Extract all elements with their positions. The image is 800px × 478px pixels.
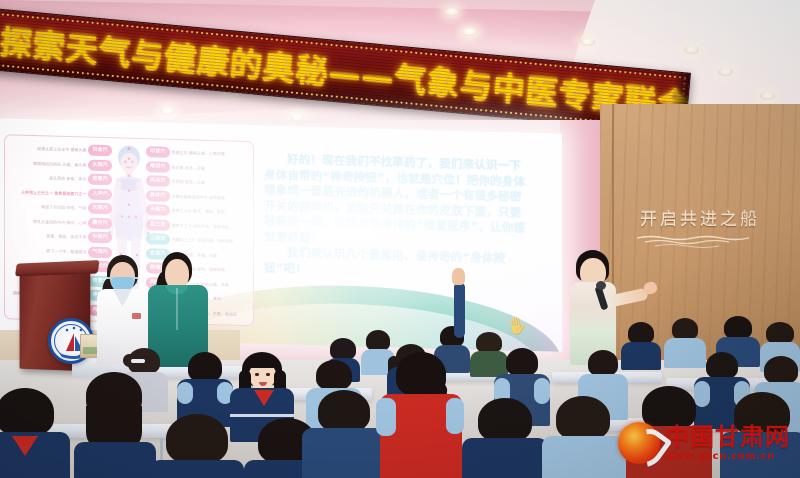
hair xyxy=(366,330,390,351)
hair xyxy=(476,332,502,353)
acupoint-pill: 天突穴 xyxy=(88,203,112,215)
ceiling-downlight xyxy=(684,46,699,54)
wall-motto-text: 开启共进之船 xyxy=(625,205,775,230)
acupoint-description: 膝眼下三寸 消化不良、增强免疫 xyxy=(172,222,229,229)
hair xyxy=(764,356,798,384)
hair xyxy=(166,414,228,464)
ceiling-downlight xyxy=(580,38,595,46)
watermark-brand-name: 中国甘肃网 xyxy=(665,425,790,449)
hand-pointer-icon: ✋ xyxy=(506,315,530,337)
student-girl-red-vest xyxy=(396,352,446,478)
uniform-jacket xyxy=(542,436,626,478)
uniform-jacket xyxy=(302,428,386,478)
coat-badge xyxy=(132,313,141,319)
acupoint-pill: 足三里 xyxy=(146,219,170,231)
acupoint-description: 两眉正中 缓解头痛、心情烦躁 xyxy=(172,150,225,156)
uniform-shoulder-right xyxy=(534,378,550,404)
hair xyxy=(588,350,618,376)
student xyxy=(318,390,370,478)
student xyxy=(476,332,502,372)
wall-motto-wave-decoration xyxy=(625,234,775,248)
hair xyxy=(478,398,532,442)
acupoint-description: 鼻孔两旁 鼻塞、鼻炎 xyxy=(49,175,86,181)
uniform-jacket xyxy=(150,460,244,478)
acupoint-pill: 人中穴 xyxy=(88,188,112,200)
acupoint-label-row: 鼻孔两旁 鼻塞、鼻炎迎香穴 xyxy=(8,170,112,186)
acupoint-description: 眼内角 目赤、目痛 xyxy=(172,164,205,170)
acupoint-pill: 三阴交 xyxy=(146,233,170,245)
acupoint-description: 两眉梢后凹陷处 头痛、偏头痛 xyxy=(33,161,86,167)
student xyxy=(672,318,698,364)
hair xyxy=(628,322,654,344)
photo-scene: 探索天气与健康的奥秘——气象与中医专家联合校园科普行 开启共进之船 xyxy=(0,0,800,478)
acupoint-label-row: 胃痛、腹胀、食欲不振中脘穴 xyxy=(8,228,112,244)
hair xyxy=(330,338,356,360)
ceiling-downlight xyxy=(160,107,175,115)
acupoint-label-row: 风池穴后颈部 感冒、头痛 xyxy=(146,174,250,190)
acupoint-label-row: 肩井穴大椎与肩峰连线中点 肩颈酸痛 xyxy=(146,189,250,205)
acupoint-label-row: 天枢穴脐旁上寸中 腹泻、便秘、腹胀 xyxy=(146,203,250,219)
eye-right xyxy=(266,373,270,376)
student-raising-hand xyxy=(452,268,466,338)
hair xyxy=(0,388,54,436)
student xyxy=(86,372,142,478)
acupoint-description: 喉结下方凹陷 咳嗽、气喘 xyxy=(41,204,86,210)
uniform-jacket xyxy=(664,338,706,368)
hair xyxy=(672,318,698,340)
wall-motto: 开启共进之船 xyxy=(625,205,775,248)
acupoint-label-row: 睛明穴眼内角 目赤、目痛 xyxy=(146,160,250,176)
student xyxy=(166,414,228,478)
hair xyxy=(724,316,752,339)
student xyxy=(478,398,532,478)
uniform-jacket xyxy=(462,438,548,478)
uniform-jacket xyxy=(621,342,661,370)
acupoint-pill: 膻中穴 xyxy=(88,217,112,229)
uniform-stripe xyxy=(230,414,294,417)
acupoint-description: 脐旁上寸中 腹泻、便秘、腹胀 xyxy=(172,208,225,214)
watermark-url: www.gscn.com.cn xyxy=(665,452,790,462)
student xyxy=(366,330,390,370)
acupoint-description: 内踝尖上三寸 月经不调、妇科调理 xyxy=(172,237,233,244)
acupoint-description: 脐下一寸半，腹痛腹泻 xyxy=(46,248,86,254)
acupoint-label-row: 两乳头连线的中点 胸闷、心悸膻中穴 xyxy=(8,214,112,230)
ceiling-downlight xyxy=(462,28,477,36)
acupoint-label-row: 两眉梢后凹陷处 头痛、偏头痛太阳穴 xyxy=(8,156,112,172)
slide-paragraph-1: 好的！现在我们不找草药了，我们来认识一下身体自带的“神奇按钮”，也就是穴位！把你… xyxy=(264,151,526,251)
acupoint-label-row: 经常头部上方正中 缓解头痛百会穴 xyxy=(8,141,112,157)
acupoint-description: 后颈部 感冒、头痛 xyxy=(172,179,205,185)
acupoint-label-row: 三阴交内踝尖上三寸 月经不调、妇科调理 xyxy=(146,232,250,248)
student xyxy=(0,388,54,478)
hand xyxy=(452,268,465,285)
student xyxy=(188,352,222,422)
slide-body-text: 好的！现在我们不找草药了，我们来认识一下身体自带的“神奇按钮”，也就是穴位！把你… xyxy=(264,151,526,282)
acupoint-pill: 迎香穴 xyxy=(88,174,112,186)
lectern-top xyxy=(15,260,100,276)
acupoint-pill: 百会穴 xyxy=(88,145,112,157)
jacket-zipper xyxy=(176,288,178,330)
ceiling-downlight xyxy=(760,92,775,100)
gscn-orb-logo xyxy=(618,422,660,464)
acupoint-label-row: 人中沟上三分之一 急救昏迷要穴之一人中穴 xyxy=(8,185,112,201)
hair xyxy=(766,322,794,344)
acupoint-description: 两乳头连线的中点 胸闷、心悸 xyxy=(33,219,86,225)
acupoint-pill: 中脘穴 xyxy=(88,232,112,244)
student xyxy=(556,396,610,478)
acupoint-description: 胃痛、腹胀、食欲不振 xyxy=(46,233,86,239)
raised-arm xyxy=(454,282,465,338)
student xyxy=(628,322,654,366)
acupoint-pill: 风池穴 xyxy=(146,175,170,187)
hair xyxy=(316,360,352,390)
uniform-jacket xyxy=(74,442,156,478)
acupoint-description: 大椎与肩峰连线中点 肩颈酸痛 xyxy=(172,193,225,199)
uniform-sleeve-left xyxy=(376,398,396,436)
uniform-shoulder-left xyxy=(694,381,710,407)
hair-accessory xyxy=(131,359,145,363)
acupoint-label-row: 足三里膝眼下三寸 消化不良、增强免疫 xyxy=(146,218,250,234)
hair xyxy=(506,348,538,376)
uniform-sleeve-right xyxy=(446,398,464,434)
ceiling-downlight xyxy=(718,68,733,76)
hair xyxy=(706,352,738,379)
hair-bangs xyxy=(248,359,277,368)
hair xyxy=(318,390,370,432)
eye-left xyxy=(255,373,259,376)
microphone-head xyxy=(596,281,606,290)
hair xyxy=(556,396,610,440)
acupoint-pill: 肩井穴 xyxy=(146,190,170,202)
gscn-watermark: 中国甘肃网 www.gscn.com.cn xyxy=(618,422,790,464)
watermark-text-block: 中国甘肃网 www.gscn.com.cn xyxy=(665,425,790,462)
acupoint-description: 经常头部上方正中 缓解头痛 xyxy=(37,146,86,152)
acupoint-pill: 印堂穴 xyxy=(146,146,170,158)
acupoint-description: 人中沟上三分之一 急救昏迷要穴之一 xyxy=(21,189,86,196)
hair xyxy=(188,352,222,382)
ceiling-downlight xyxy=(444,8,459,16)
uniform-shoulder-left xyxy=(177,382,193,404)
slide-paragraph-2: 我们来认识几个最常用、最神奇的“身体按钮”吧！ xyxy=(264,244,526,282)
acupoint-label-row: 喉结下方凹陷 咳嗽、气喘天突穴 xyxy=(8,199,112,215)
acupoint-label-row: 印堂穴两眉正中 缓解头痛、心情烦躁 xyxy=(146,145,250,161)
acupoint-pill: 太阳穴 xyxy=(88,159,112,171)
acupoint-pill: 天枢穴 xyxy=(146,204,170,216)
acupoint-pill: 睛明穴 xyxy=(146,161,170,173)
